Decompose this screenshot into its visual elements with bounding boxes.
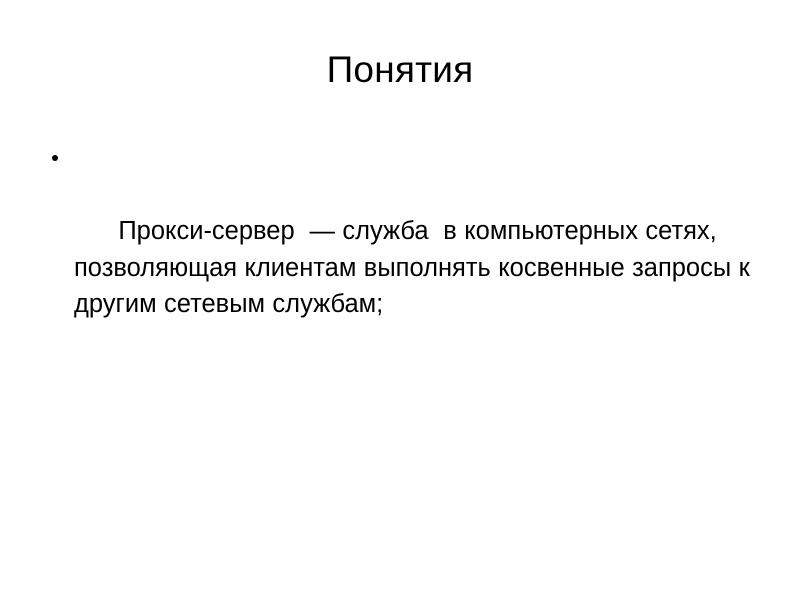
slide-body: Прокси-сервер — служба в компьютерных се… bbox=[48, 140, 758, 359]
bullet-dot-icon bbox=[52, 155, 58, 161]
list-item-label: Прокси-сервер — служба в компьютерных се… bbox=[74, 217, 757, 318]
list-item: Прокси-сервер — служба в компьютерных се… bbox=[48, 140, 758, 359]
page-title: Понятия bbox=[0, 48, 800, 92]
slide-canvas: Понятия Прокси-сервер — служба в компьют… bbox=[0, 0, 800, 600]
